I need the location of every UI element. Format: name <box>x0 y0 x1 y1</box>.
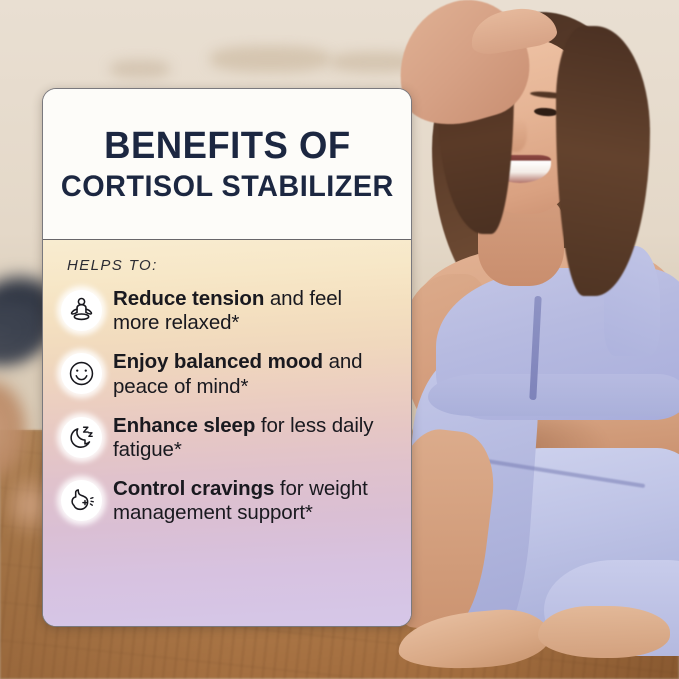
list-item-lead: Enhance sleep <box>113 414 255 437</box>
page-title-line1: BENEFITS OF <box>104 127 350 165</box>
card-body: HELPS TO: Re <box>43 240 411 626</box>
list-item-text: Enhance sleep for less daily fatigue* <box>113 413 393 462</box>
benefits-list: Reduce tension and feel more relaxed* <box>61 286 393 526</box>
list-item-lead: Enjoy balanced mood <box>113 350 323 373</box>
list-item: Reduce tension and feel more relaxed* <box>61 286 393 335</box>
stomach-plus-icon <box>61 480 102 521</box>
benefits-card: BENEFITS OF CORTISOL STABILIZER HELPS TO… <box>42 88 412 627</box>
page-title-line2: CORTISOL STABILIZER <box>61 172 394 202</box>
card-header: BENEFITS OF CORTISOL STABILIZER <box>43 89 411 240</box>
list-item-text: Reduce tension and feel more relaxed* <box>113 286 393 335</box>
list-item-text: Enjoy balanced mood and peace of mind* <box>113 349 393 398</box>
smiley-face-icon <box>61 353 102 394</box>
helps-to-label: HELPS TO: <box>67 257 393 274</box>
foot-second <box>538 606 670 658</box>
list-item: Control cravings for weight management s… <box>61 476 393 525</box>
list-item: Enhance sleep for less daily fatigue* <box>61 413 393 462</box>
list-item: Enjoy balanced mood and peace of mind* <box>61 349 393 398</box>
meditation-lotus-icon <box>61 290 102 331</box>
promotional-graphic: BENEFITS OF CORTISOL STABILIZER HELPS TO… <box>0 0 679 679</box>
list-item-lead: Reduce tension <box>113 287 264 310</box>
list-item-text: Control cravings for weight management s… <box>113 476 393 525</box>
sports-bra-band <box>428 374 679 416</box>
list-item-lead: Control cravings <box>113 477 274 500</box>
sleeping-moon-icon <box>61 417 102 458</box>
